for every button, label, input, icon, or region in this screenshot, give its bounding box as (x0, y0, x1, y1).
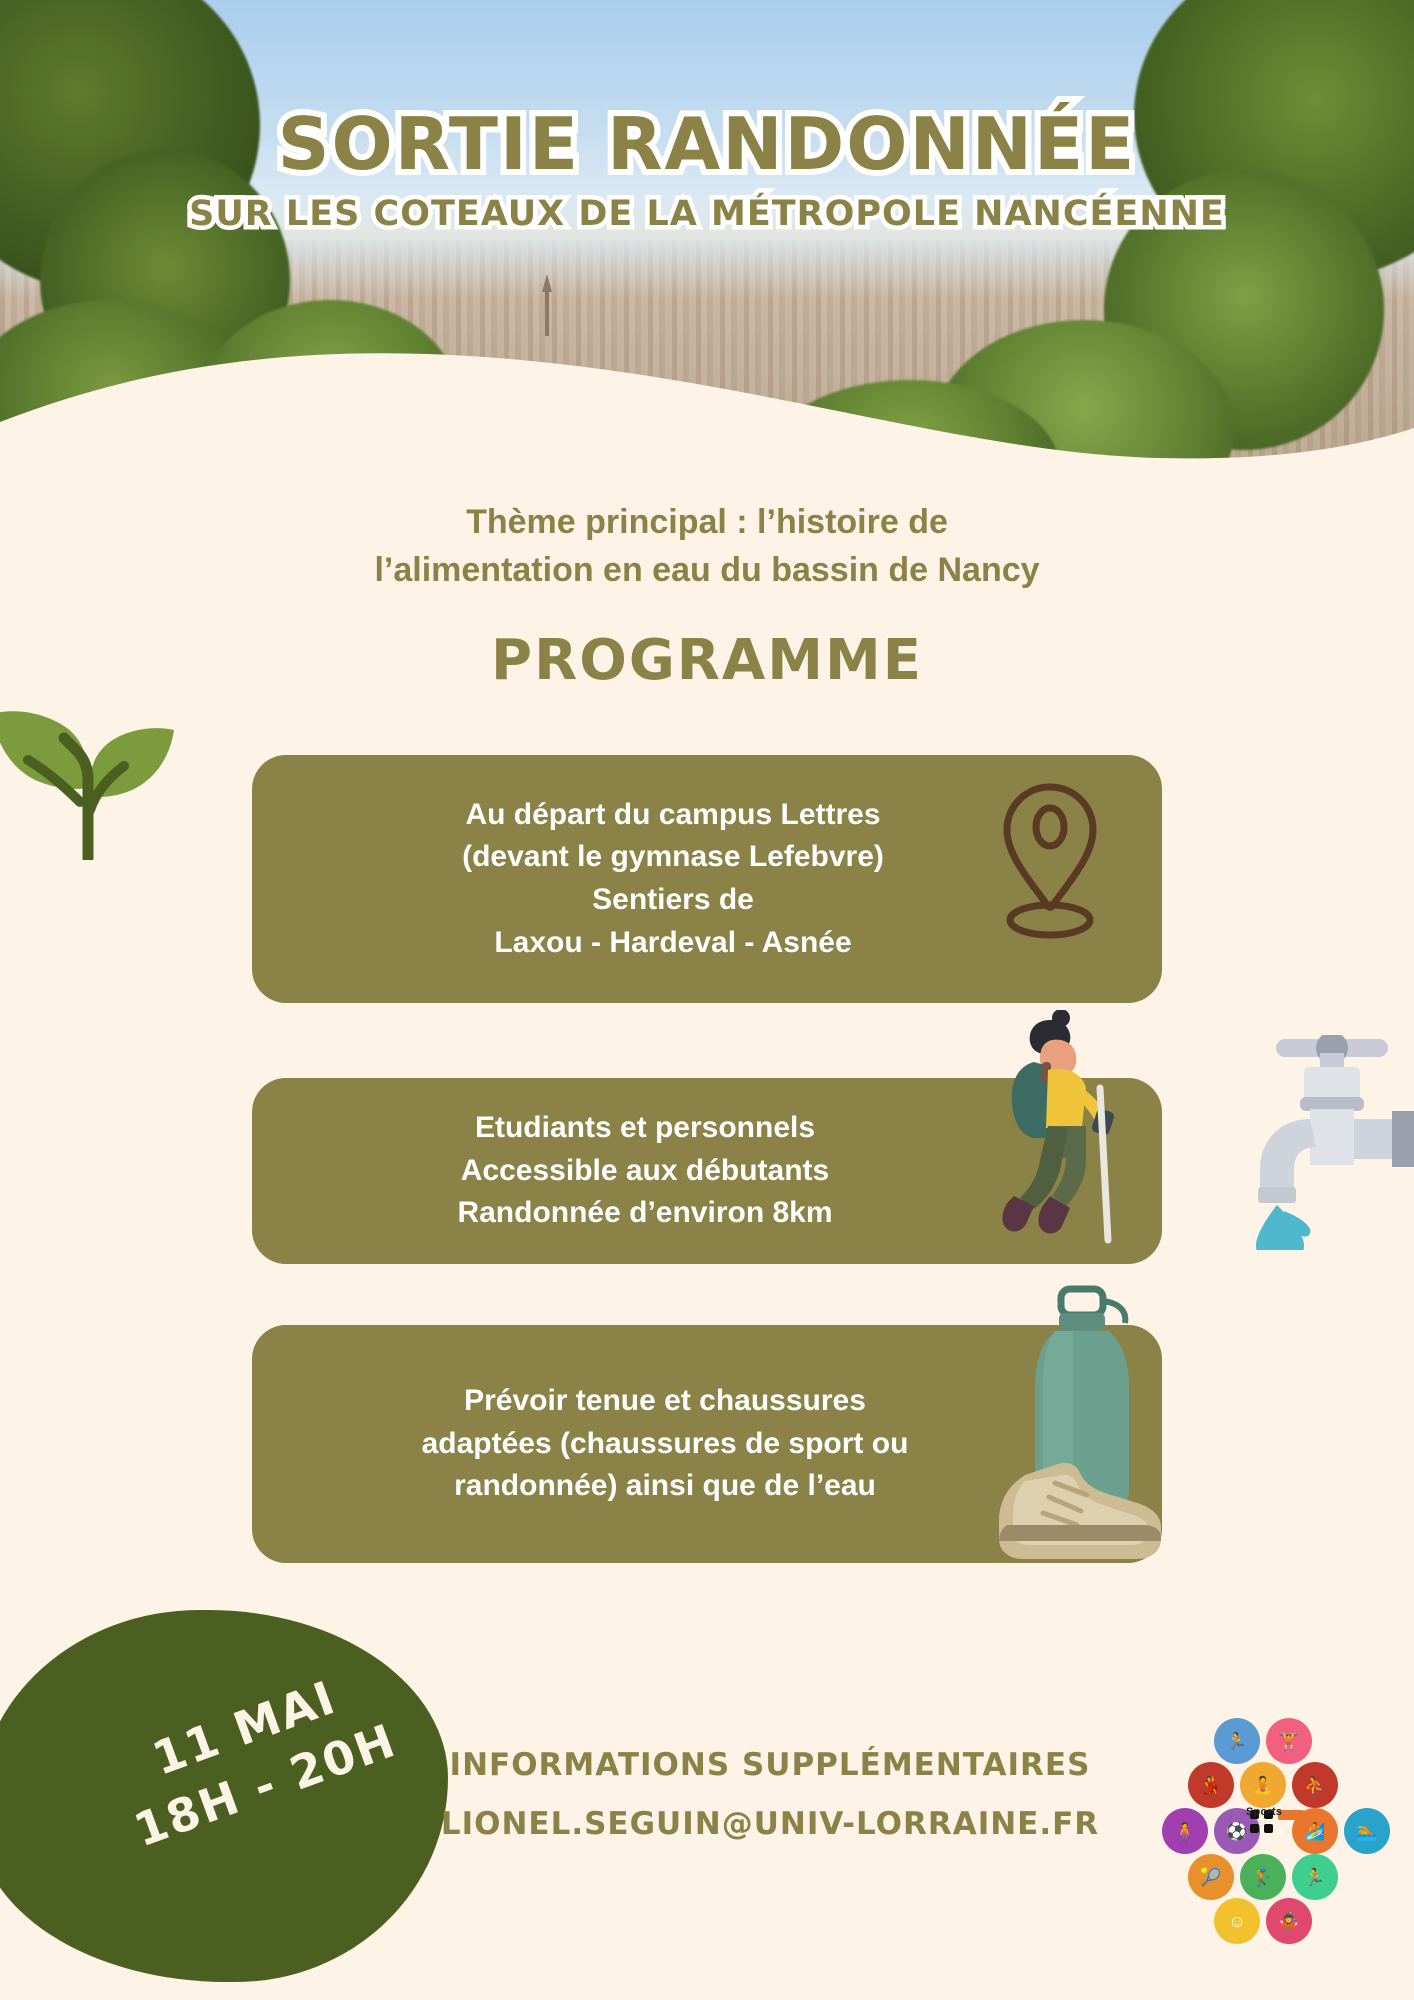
tennis-icon: 🎾 (1188, 1854, 1234, 1900)
title-block: SORTIE RANDONNÉE SUR LES COTEAUX DE LA M… (0, 108, 1414, 234)
card2-line-3: Randonnée d’environ 8km (220, 1192, 1070, 1235)
bottle-boot-icon (955, 1285, 1170, 1575)
golf-icon: 🏌 (1240, 1854, 1286, 1900)
climbing-icon: 🏃 (1214, 1718, 1260, 1764)
contact-block: INFORMATIONS SUPPLÉMENTAIRES LIONEL.SEGU… (430, 1742, 1110, 1847)
theme-text: Thème principal : l’histoire de l’alimen… (0, 498, 1414, 595)
contact-label: INFORMATIONS SUPPLÉMENTAIRES (430, 1742, 1110, 1789)
leaf-sprout-icon (0, 660, 192, 860)
card1-line-1: Au départ du campus Lettres (248, 794, 1098, 837)
theme-line-1: Thème principal : l’histoire de (0, 498, 1414, 546)
theme-line-2: l’alimentation en eau du bassin de Nancy (0, 546, 1414, 594)
map-pin-icon (985, 775, 1115, 945)
smiley-icon: ☺ (1214, 1898, 1260, 1944)
logo-label: Sports (1246, 1806, 1282, 1818)
logo-square-4 (1264, 1824, 1273, 1833)
yoga-icon: 🧘 (1240, 1762, 1286, 1808)
hiker-icon (990, 1010, 1130, 1250)
card2-line-2: Accessible aux débutants (220, 1150, 1070, 1193)
programme-heading: PROGRAMME (0, 628, 1414, 693)
water-tap-icon (1232, 1035, 1414, 1250)
page-subtitle: SUR LES COTEAUX DE LA MÉTROPOLE NANCÉENN… (0, 194, 1414, 234)
dance-icon: 💃 (1188, 1762, 1234, 1808)
logo-square-2 (1250, 1824, 1259, 1833)
contact-email[interactable]: LIONEL.SEGUIN@UNIV-LORRAINE.FR (430, 1801, 1110, 1848)
page-title: SORTIE RANDONNÉE (0, 108, 1414, 180)
swimming-icon: 🏊 (1344, 1808, 1390, 1854)
basketball-icon: ⛹ (1292, 1762, 1338, 1808)
gymnastics-icon: 🧍 (1162, 1808, 1208, 1854)
sports-logo: 🏃 🏋 💃 🧘 ⛹ 🧍 ⚽ 🏄 🏊 🎾 🏌 🏃 ☺ 🤹 Sports (1178, 1718, 1378, 1918)
running-icon: 🏃 (1292, 1854, 1338, 1900)
card1-line-4: Laxou - Hardeval - Asnée (248, 922, 1098, 965)
card1-line-2: (devant le gymnase Lefebvre) (248, 836, 1098, 879)
card2-line-1: Etudiants et personnels (220, 1107, 1070, 1150)
card1-line-3: Sentiers de (248, 879, 1098, 922)
poster: SORTIE RANDONNÉE SUR LES COTEAUX DE LA M… (0, 0, 1414, 2000)
fitness-icon: 🏋 (1266, 1718, 1312, 1764)
gymnast-icon: 🤹 (1266, 1898, 1312, 1944)
